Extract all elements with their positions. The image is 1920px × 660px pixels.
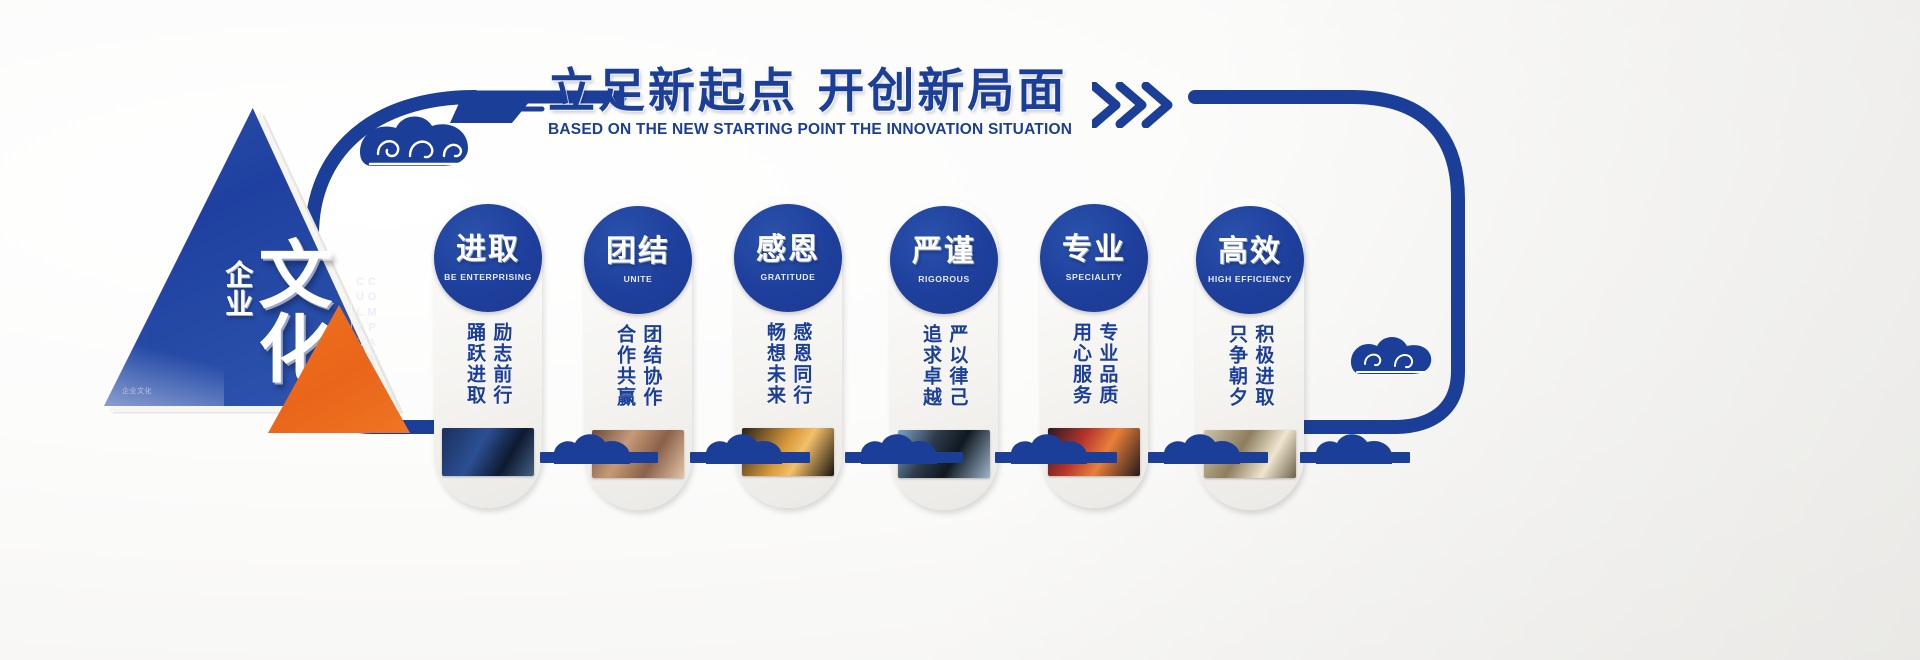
value-card-english: GRATITUDE [761,272,816,282]
value-card-title: 进取 [456,235,520,265]
value-card-slogan-left: 只争朝夕 [1226,324,1248,446]
value-card-slogan-right: 感恩同行 [790,322,812,444]
blue-band-segment-3 [845,452,963,463]
value-card-disc: 团结UNITE [584,206,692,314]
value-card-row: 进取BE ENTERPRISING励志前行踊跃进取团结UNITE团结协作合作共赢… [0,0,1920,660]
value-card-slogan-right: 严以律己 [946,324,968,446]
value-card-english: RIGOROUS [918,274,970,284]
value-card-slogan-group: 团结协作合作共赢 [584,324,692,446]
value-card-slogan-left: 追求卓越 [920,324,942,446]
value-card-english: UNITE [624,274,653,284]
value-card-slogan-right: 积极进取 [1252,324,1274,446]
value-card-slogan-left: 合作共赢 [614,324,636,446]
blue-band-segment-1 [540,452,658,463]
value-card-title: 感恩 [756,235,820,265]
blue-band-segment-2 [690,452,810,463]
value-card-slogan-group: 严以律己追求卓越 [890,324,998,446]
blue-band-segment-4 [995,452,1117,463]
value-card-1[interactable]: 进取BE ENTERPRISING励志前行踊跃进取 [434,196,542,508]
photo-pen-blue [442,428,534,476]
value-card-slogan-group: 励志前行踊跃进取 [434,322,542,444]
value-card-title: 团结 [606,237,670,267]
value-card-english: SPECIALITY [1066,272,1123,282]
value-card-slogan-left: 用心服务 [1070,322,1092,444]
value-card-slogan-group: 专业品质用心服务 [1040,322,1148,444]
value-card-slogan-group: 积极进取只争朝夕 [1196,324,1304,446]
value-card-title: 专业 [1062,235,1126,265]
value-card-slogan-right: 励志前行 [490,322,512,444]
value-card-slogan-left: 畅想未来 [764,322,786,444]
value-card-english: BE ENTERPRISING [444,272,532,282]
value-card-slogan-right: 专业品质 [1096,322,1118,444]
blue-band-segment-5 [1148,452,1268,463]
value-card-english: HIGH EFFICIENCY [1208,274,1292,284]
value-card-slogan-left: 踊跃进取 [464,322,486,444]
value-card-title: 严谨 [912,237,976,267]
value-card-disc: 高效HIGH EFFICIENCY [1196,206,1304,314]
blue-band-segment-6 [1300,452,1410,463]
value-card-disc: 进取BE ENTERPRISING [434,204,542,312]
value-card-disc: 严谨RIGOROUS [890,206,998,314]
value-card-slogan-group: 感恩同行畅想未来 [734,322,842,444]
value-card-title: 高效 [1218,237,1282,267]
value-card-disc: 感恩GRATITUDE [734,204,842,312]
value-card-disc: 专业SPECIALITY [1040,204,1148,312]
value-card-slogan-right: 团结协作 [640,324,662,446]
